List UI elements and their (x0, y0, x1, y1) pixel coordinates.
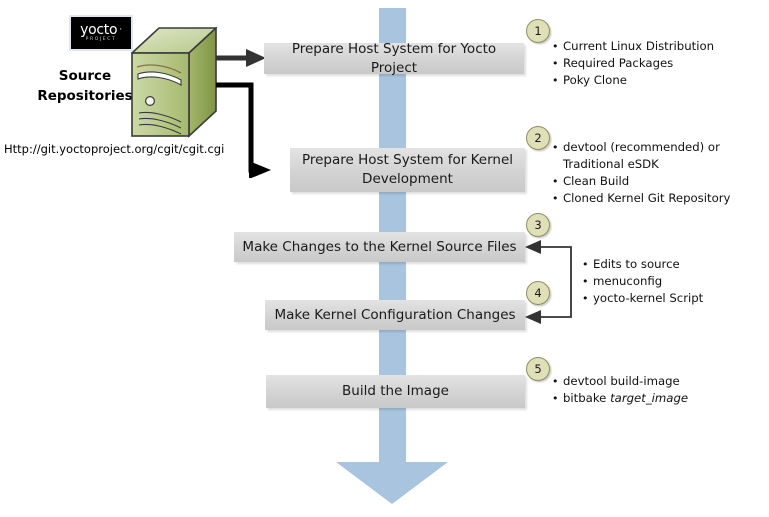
server-tower-icon (131, 27, 217, 143)
list-item: bitbake target_image (552, 390, 688, 407)
step-badge-5: 5 (526, 357, 550, 381)
step-badge-2: 2 (526, 126, 550, 150)
bullet-text: devtool build-image (563, 374, 680, 388)
bullet-text: yocto-kernel Script (593, 291, 703, 305)
process-box-step-5-label: Build the Image (342, 382, 449, 401)
list-item: devtool build-image (552, 373, 688, 390)
list-item: Clean Build (552, 173, 730, 190)
bullet-list-step-5: devtool build-image bitbake target_image (552, 373, 688, 407)
process-box-step-2-label-line1: Prepare Host System for Kernel (302, 152, 513, 168)
bullet-text: Cloned Kernel Git Repository (563, 191, 730, 205)
bullet-text: devtool (recommended) or (563, 140, 720, 154)
process-box-step-2-label: Prepare Host System for Kernel Developme… (302, 151, 513, 189)
bullet-text: Required Packages (563, 56, 673, 70)
bullet-list-step-2: devtool (recommended) or Traditional eSD… (552, 139, 730, 207)
process-box-step-5[interactable]: Build the Image (266, 375, 525, 408)
process-box-step-1-label: Prepare Host System for Yocto Project (272, 40, 516, 78)
bullet-text-continuation: Traditional eSDK (563, 156, 730, 173)
process-box-step-4[interactable]: Make Kernel Configuration Changes (265, 300, 525, 330)
list-item: Current Linux Distribution (552, 38, 714, 55)
step-badge-1: 1 (526, 19, 550, 43)
bullet-list-steps-3-4: Edits to source menuconfig yocto-kernel … (582, 256, 703, 307)
source-repositories-label: Source Repositories (30, 66, 140, 106)
process-box-step-3[interactable]: Make Changes to the Kernel Source Files (234, 232, 525, 262)
bullet-text-italic: target_image (610, 391, 688, 405)
connector-server-to-step2 (216, 74, 276, 178)
list-item: Required Packages (552, 55, 714, 72)
step-badge-2-number: 2 (534, 131, 541, 145)
list-item: Edits to source (582, 256, 703, 273)
step-badge-3: 3 (526, 213, 550, 237)
process-box-step-1[interactable]: Prepare Host System for Yocto Project (264, 43, 524, 74)
bullet-list-step-1: Current Linux Distribution Required Pack… (552, 38, 714, 89)
logo-dot-icon: · (119, 25, 122, 35)
process-box-step-4-label: Make Kernel Configuration Changes (274, 306, 515, 325)
logo-wordmark-text: yocto (80, 22, 117, 38)
bullet-text-prefix: bitbake (563, 391, 610, 405)
source-label-line2: Repositories (30, 86, 140, 106)
bullet-text: menuconfig (593, 274, 662, 288)
bullet-text: Edits to source (593, 257, 680, 271)
bullet-text: Clean Build (563, 174, 629, 188)
source-repositories-url: Http://git.yoctoproject.org/cgit/cgit.cg… (4, 142, 224, 156)
process-box-step-2[interactable]: Prepare Host System for Kernel Developme… (290, 148, 525, 192)
flow-arrow-down-icon (334, 428, 452, 508)
list-item: Cloned Kernel Git Repository (552, 190, 730, 207)
list-item: menuconfig (582, 273, 703, 290)
list-item: devtool (recommended) or Traditional eSD… (552, 139, 730, 173)
yocto-project-logo: yocto· PROJECT (69, 15, 133, 51)
process-box-step-3-label: Make Changes to the Kernel Source Files (242, 238, 516, 257)
step-badge-5-number: 5 (534, 362, 541, 376)
bullet-text: Poky Clone (563, 73, 627, 87)
process-box-step-2-label-line2: Development (362, 171, 453, 187)
step-badge-4: 4 (526, 281, 550, 305)
logo-wordmark: yocto· (80, 23, 122, 37)
bullet-text: Current Linux Distribution (563, 39, 714, 53)
list-item: yocto-kernel Script (582, 290, 703, 307)
step-badge-1-number: 1 (534, 24, 541, 38)
logo-subtitle: PROJECT (86, 38, 117, 43)
connector-server-to-step1 (216, 46, 270, 70)
step-badge-3-number: 3 (534, 218, 541, 232)
diagram-canvas: yocto· PROJECT Source Repositories Http:… (0, 0, 769, 517)
source-label-line1: Source (30, 66, 140, 86)
step-badge-4-number: 4 (534, 286, 541, 300)
list-item: Poky Clone (552, 72, 714, 89)
